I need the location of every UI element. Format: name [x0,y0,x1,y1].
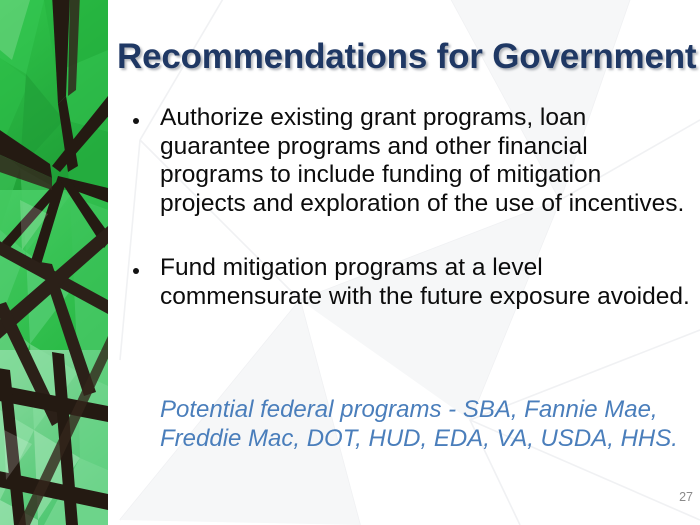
bullet-dot-icon [133,118,139,124]
green-mosaic-graphic [0,0,108,525]
list-item-label: Fund mitigation programs at a level comm… [160,254,692,311]
bullet-list: Authorize existing grant programs, loan … [122,104,692,311]
list-item-label: Authorize existing grant programs, loan … [160,104,692,218]
slide-content: Recommendations for Government Authorize… [108,0,700,525]
bullet-dot-icon [133,268,139,274]
page-number: 27 [648,490,693,504]
list-item: Fund mitigation programs at a level comm… [122,254,692,311]
note-text: Potential federal programs - SBA, Fannie… [122,396,700,454]
page-title: Recommendations for Government [117,38,700,76]
green-mosaic-svg [0,0,108,525]
list-item: Authorize existing grant programs, loan … [122,104,692,218]
slide-canvas: Recommendations for Government Authorize… [0,0,700,525]
